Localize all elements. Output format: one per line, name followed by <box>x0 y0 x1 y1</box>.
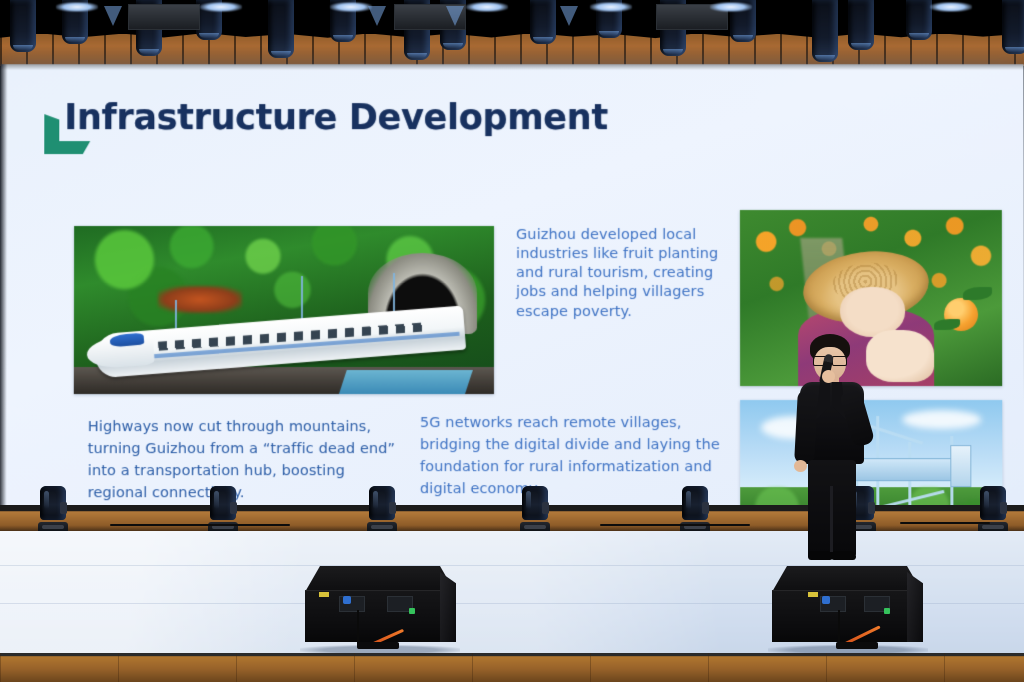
presenter-hand-holding-microphone <box>822 370 835 383</box>
stage-monitor-wedge <box>305 566 455 646</box>
presenter <box>778 334 884 556</box>
light-beam-cone <box>446 6 464 26</box>
rig-lamp-glow <box>710 2 752 12</box>
monitor-led-green <box>884 608 890 614</box>
presenter-leg-gap <box>830 486 833 552</box>
moving-head-light-icon <box>520 486 550 536</box>
hanging-light-icon <box>268 0 294 58</box>
monitor-floor-plate <box>357 642 399 649</box>
rig-lamp-glow <box>930 2 972 12</box>
stage-front-apron <box>0 653 1024 682</box>
light-knob <box>542 502 549 514</box>
train-photo-red-soil <box>158 286 242 313</box>
light-knob <box>230 502 237 514</box>
slide-text-guizhou-industries: Guizhou developed local industries like … <box>516 226 722 322</box>
hanging-light-icon <box>848 0 874 50</box>
water-pond <box>339 371 473 395</box>
monitor-led-blue <box>343 596 351 604</box>
rig-lamp-glow <box>56 2 98 12</box>
page-title: Infrastructure Development <box>64 98 608 138</box>
hanging-light-icon <box>1002 0 1024 54</box>
light-beam-cone <box>104 6 122 26</box>
hanging-light-icon <box>812 0 838 62</box>
light-knob <box>1000 502 1007 514</box>
monitor-led-yellow <box>319 592 329 597</box>
antenna-panel <box>950 445 971 487</box>
presenter-shoe-left <box>808 551 833 560</box>
stage-scene: Infrastructure Development Guiz <box>0 0 1024 682</box>
monitor-front-face <box>305 590 455 642</box>
light-knob <box>60 502 67 514</box>
rig-lamp-glow <box>200 2 242 12</box>
photo-high-speed-train <box>74 226 494 394</box>
monitor-led-blue <box>822 596 830 604</box>
monitor-top-face <box>772 566 922 592</box>
rig-lamp-glow <box>330 2 372 12</box>
monitor-side-face <box>907 572 923 642</box>
bracket-horizontal-bar <box>44 141 90 154</box>
slide-text-highways: Highways now cut through mountains, turn… <box>88 416 404 504</box>
light-knob <box>702 502 709 514</box>
rig-lamp-glow <box>466 2 508 12</box>
light-knob <box>389 502 396 514</box>
monitor-led-green <box>409 608 415 614</box>
light-beam-cone <box>560 6 578 26</box>
stage-cable <box>110 524 290 526</box>
monitor-floor-plate <box>836 642 878 649</box>
moving-head-light-icon <box>38 486 68 536</box>
moving-head-light-icon <box>208 486 238 536</box>
monitor-cable <box>838 610 840 642</box>
monitor-front-face <box>772 590 922 642</box>
cloud <box>903 410 982 429</box>
presenter-arm-left <box>794 390 818 465</box>
screen-left-frame <box>0 64 7 508</box>
hanging-light-icon <box>906 0 932 40</box>
hanging-light-icon <box>10 0 36 52</box>
presenter-shoe-right <box>831 551 856 560</box>
moving-head-light-icon <box>367 486 397 536</box>
stage-monitor-wedge <box>772 566 922 646</box>
rig-lamp-glow <box>590 2 632 12</box>
screen-top-shadow <box>0 64 1023 70</box>
presenter-hand-left <box>794 460 807 472</box>
ceiling-lighting-rig <box>0 0 1024 66</box>
monitor-top-face <box>305 566 455 592</box>
stage-cable <box>600 524 750 526</box>
light-beam-cone <box>368 6 386 26</box>
monitor-cable <box>357 610 359 644</box>
moving-head-light-icon <box>978 486 1008 536</box>
moving-head-light-icon <box>680 486 710 536</box>
stage-cable <box>900 522 990 524</box>
hanging-light-icon <box>530 0 556 44</box>
rig-fixture-box <box>128 4 200 30</box>
monitor-side-face <box>440 572 456 642</box>
monitor-led-yellow <box>808 592 818 597</box>
